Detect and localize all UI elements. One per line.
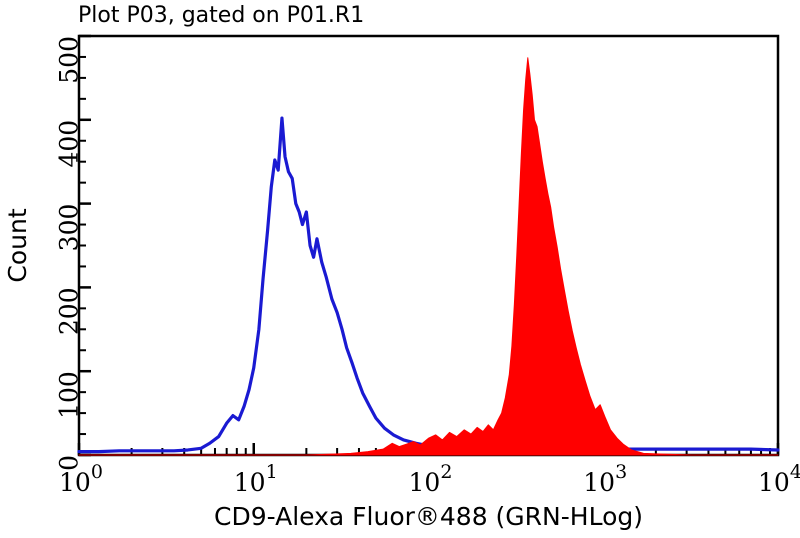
- plot-frame: [79, 36, 778, 455]
- svg-text:500: 500: [55, 36, 84, 84]
- svg-text:200: 200: [55, 287, 84, 335]
- series-paths: [79, 58, 778, 455]
- x-axis-title: CD9-Alexa Fluor®488 (GRN-HLog): [214, 502, 643, 531]
- flow-cytometry-plot: Plot P03, gated on P01.R1 10010110210310…: [0, 0, 800, 538]
- svg-text:100: 100: [55, 371, 84, 419]
- histogram-chart: 100101102103104 0100200300400500 CD9-Ale…: [0, 0, 800, 538]
- svg-text:103: 103: [583, 461, 627, 497]
- svg-text:102: 102: [409, 461, 453, 497]
- x-tick-labels: 100101102103104: [59, 461, 800, 497]
- svg-text:300: 300: [55, 204, 84, 252]
- svg-text:101: 101: [234, 461, 278, 497]
- svg-text:0: 0: [55, 455, 84, 471]
- svg-text:400: 400: [55, 120, 84, 168]
- y-axis-title: Count: [3, 208, 32, 282]
- svg-text:104: 104: [758, 461, 800, 497]
